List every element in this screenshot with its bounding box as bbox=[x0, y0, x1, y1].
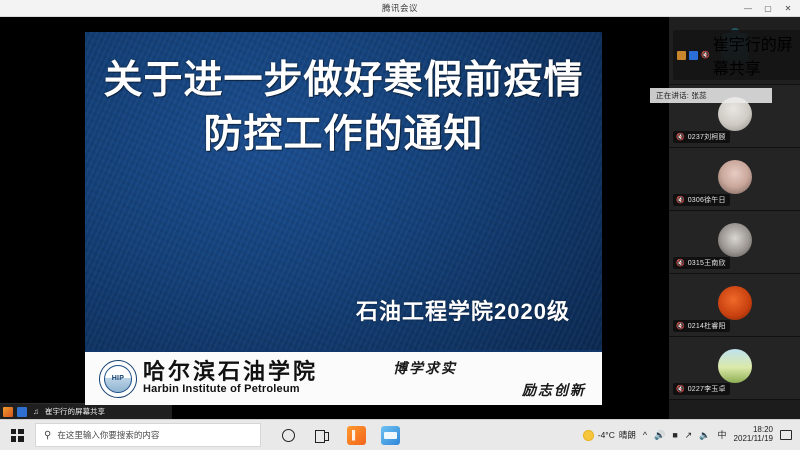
shared-screen-stage[interactable]: 关于进一步做好寒假前疫情 防控工作的通知 石油工程学院2020级 HIP 哈尔滨… bbox=[0, 17, 668, 420]
university-logo: HIP 哈尔滨石油学院 Harbin Institute of Petroleu… bbox=[99, 360, 318, 398]
taskbar-clock[interactable]: 18:20 2021/11/19 bbox=[734, 426, 773, 444]
motto-line-2: 励志创新 bbox=[522, 380, 586, 400]
windows-logo-icon bbox=[11, 429, 24, 442]
weather-description: 晴朗 bbox=[619, 429, 636, 441]
avatar bbox=[718, 286, 752, 320]
microphone-icon[interactable]: 🔊 bbox=[654, 431, 665, 440]
clock-date: 2021/11/19 bbox=[734, 435, 773, 444]
volume-icon[interactable]: 🔈 bbox=[699, 431, 710, 440]
sound-share-icon[interactable]: ♫ bbox=[31, 407, 41, 417]
window-titlebar: 腾讯会议 — ▢ ✕ bbox=[0, 0, 800, 17]
battery-icon[interactable]: ■ bbox=[672, 431, 677, 440]
search-icon: ⚲ bbox=[44, 430, 51, 441]
search-placeholder: 在这里输入你要搜索的内容 bbox=[57, 429, 159, 441]
slide-title: 关于进一步做好寒假前疫情 防控工作的通知 bbox=[85, 54, 602, 162]
ime-indicator[interactable]: 中 bbox=[718, 431, 727, 440]
presentation-slide: 关于进一步做好寒假前疫情 防控工作的通知 石油工程学院2020级 HIP 哈尔滨… bbox=[85, 32, 602, 405]
notification-center-icon[interactable] bbox=[780, 430, 792, 440]
maximize-button[interactable]: ▢ bbox=[758, 1, 778, 17]
window-title: 腾讯会议 bbox=[382, 2, 418, 14]
participant-name: 0237刘柯颐 bbox=[688, 132, 726, 142]
close-button[interactable]: ✕ bbox=[778, 1, 798, 17]
taskbar-apps bbox=[277, 424, 401, 446]
chevron-up-icon[interactable]: ^ bbox=[643, 431, 647, 440]
monitor-share-icon[interactable] bbox=[17, 407, 27, 417]
participant-tile[interactable]: 🔇 0315王南欣 bbox=[669, 211, 800, 274]
start-button[interactable] bbox=[0, 420, 34, 450]
participant-name: 0227李玉卓 bbox=[688, 384, 726, 394]
participant-tile[interactable]: 🔇 0214杜睿阳 bbox=[669, 274, 800, 337]
weather-widget[interactable]: -4°C 晴朗 bbox=[583, 429, 636, 441]
monitor-icon bbox=[689, 51, 698, 60]
participant-nametag: 🔇 0214杜睿阳 bbox=[673, 320, 730, 332]
university-name-en: Harbin Institute of Petroleum bbox=[143, 384, 318, 396]
university-motto: 博学求实 励志创新 bbox=[377, 356, 592, 404]
tencent-meeting-window: 腾讯会议 — ▢ ✕ 关于进一步做好寒假前疫情 防控工作的通知 石油工程学院20… bbox=[0, 0, 800, 450]
network-icon[interactable]: ↗ bbox=[685, 431, 693, 440]
tencent-meeting-icon[interactable] bbox=[379, 424, 401, 446]
participant-name: 0315王南欣 bbox=[688, 258, 726, 268]
screen-share-label: 崔宇行的屏幕共享 bbox=[45, 406, 105, 417]
slide-title-line1: 关于进一步做好寒假前疫情 bbox=[103, 59, 583, 102]
participant-tile[interactable]: 🔇 0306徐午日 bbox=[669, 148, 800, 211]
mic-muted-icon: 🔇 bbox=[676, 323, 685, 330]
window-controls: — ▢ ✕ bbox=[738, 0, 798, 17]
mic-muted-icon: 🔇 bbox=[676, 260, 685, 267]
university-names: 哈尔滨石油学院 Harbin Institute of Petroleum bbox=[143, 361, 318, 396]
avatar bbox=[718, 160, 752, 194]
mic-muted-icon: 🔇 bbox=[701, 52, 710, 59]
avatar bbox=[718, 349, 752, 383]
participant-rail[interactable]: 🔇 崔宇行的屏幕共享 🔇 0237刘柯颐 🔇 0306徐午日 bbox=[668, 17, 800, 420]
mic-muted-icon: 🔇 bbox=[676, 197, 685, 204]
windows-taskbar[interactable]: ⚲ 在这里输入你要搜索的内容 -4°C 晴朗 ^ 🔊 ■ ↗ 🔈 中 18:20… bbox=[0, 419, 800, 450]
slide-title-line2: 防控工作的通知 bbox=[89, 108, 598, 162]
task-view-icon[interactable] bbox=[311, 424, 333, 446]
participant-name: 崔宇行的屏幕共享 bbox=[713, 31, 797, 79]
app-share-icon[interactable] bbox=[3, 407, 13, 417]
hip-seal-icon: HIP bbox=[99, 360, 137, 398]
avatar bbox=[718, 223, 752, 257]
minimize-button[interactable]: — bbox=[738, 1, 758, 17]
participant-tile[interactable]: 🔇 0227李玉卓 bbox=[669, 337, 800, 400]
speaking-label: 正在讲话: 张蕊 bbox=[656, 90, 707, 101]
participant-nametag: 🔇 0227李玉卓 bbox=[673, 383, 730, 395]
speaking-indicator: 正在讲话: 张蕊 bbox=[650, 88, 772, 103]
sun-icon bbox=[583, 430, 594, 441]
participant-nametag: 🔇 0237刘柯颐 bbox=[673, 131, 730, 143]
participant-nametag: 🔇 0306徐午日 bbox=[673, 194, 730, 206]
participant-nametag: 🔇 0315王南欣 bbox=[673, 257, 730, 269]
participant-name: 0306徐午日 bbox=[688, 195, 726, 205]
share-nametag: 🔇 崔宇行的屏幕共享 bbox=[673, 30, 800, 80]
university-name-cn: 哈尔滨石油学院 bbox=[143, 361, 318, 384]
taskbar-search-input[interactable]: ⚲ 在这里输入你要搜索的内容 bbox=[35, 423, 261, 447]
participant-name: 0214杜睿阳 bbox=[688, 321, 726, 331]
system-tray: -4°C 晴朗 ^ 🔊 ■ ↗ 🔈 中 18:20 2021/11/19 bbox=[583, 426, 800, 444]
slide-footer: HIP 哈尔滨石油学院 Harbin Institute of Petroleu… bbox=[85, 350, 602, 405]
app-icon bbox=[677, 51, 686, 60]
mic-muted-icon: 🔇 bbox=[676, 134, 685, 141]
motto-line-1: 博学求实 bbox=[393, 358, 457, 378]
slide-subtitle: 石油工程学院2020级 bbox=[356, 294, 570, 326]
microsoft-store-icon[interactable] bbox=[345, 424, 367, 446]
participant-tile-share[interactable]: 🔇 崔宇行的屏幕共享 bbox=[669, 17, 800, 85]
hip-seal-text: HIP bbox=[104, 365, 132, 393]
weather-temperature: -4°C bbox=[598, 430, 615, 440]
screen-share-bar[interactable]: ♫ 崔宇行的屏幕共享 bbox=[0, 403, 172, 419]
cortana-icon[interactable] bbox=[277, 424, 299, 446]
mic-muted-icon: 🔇 bbox=[676, 386, 685, 393]
